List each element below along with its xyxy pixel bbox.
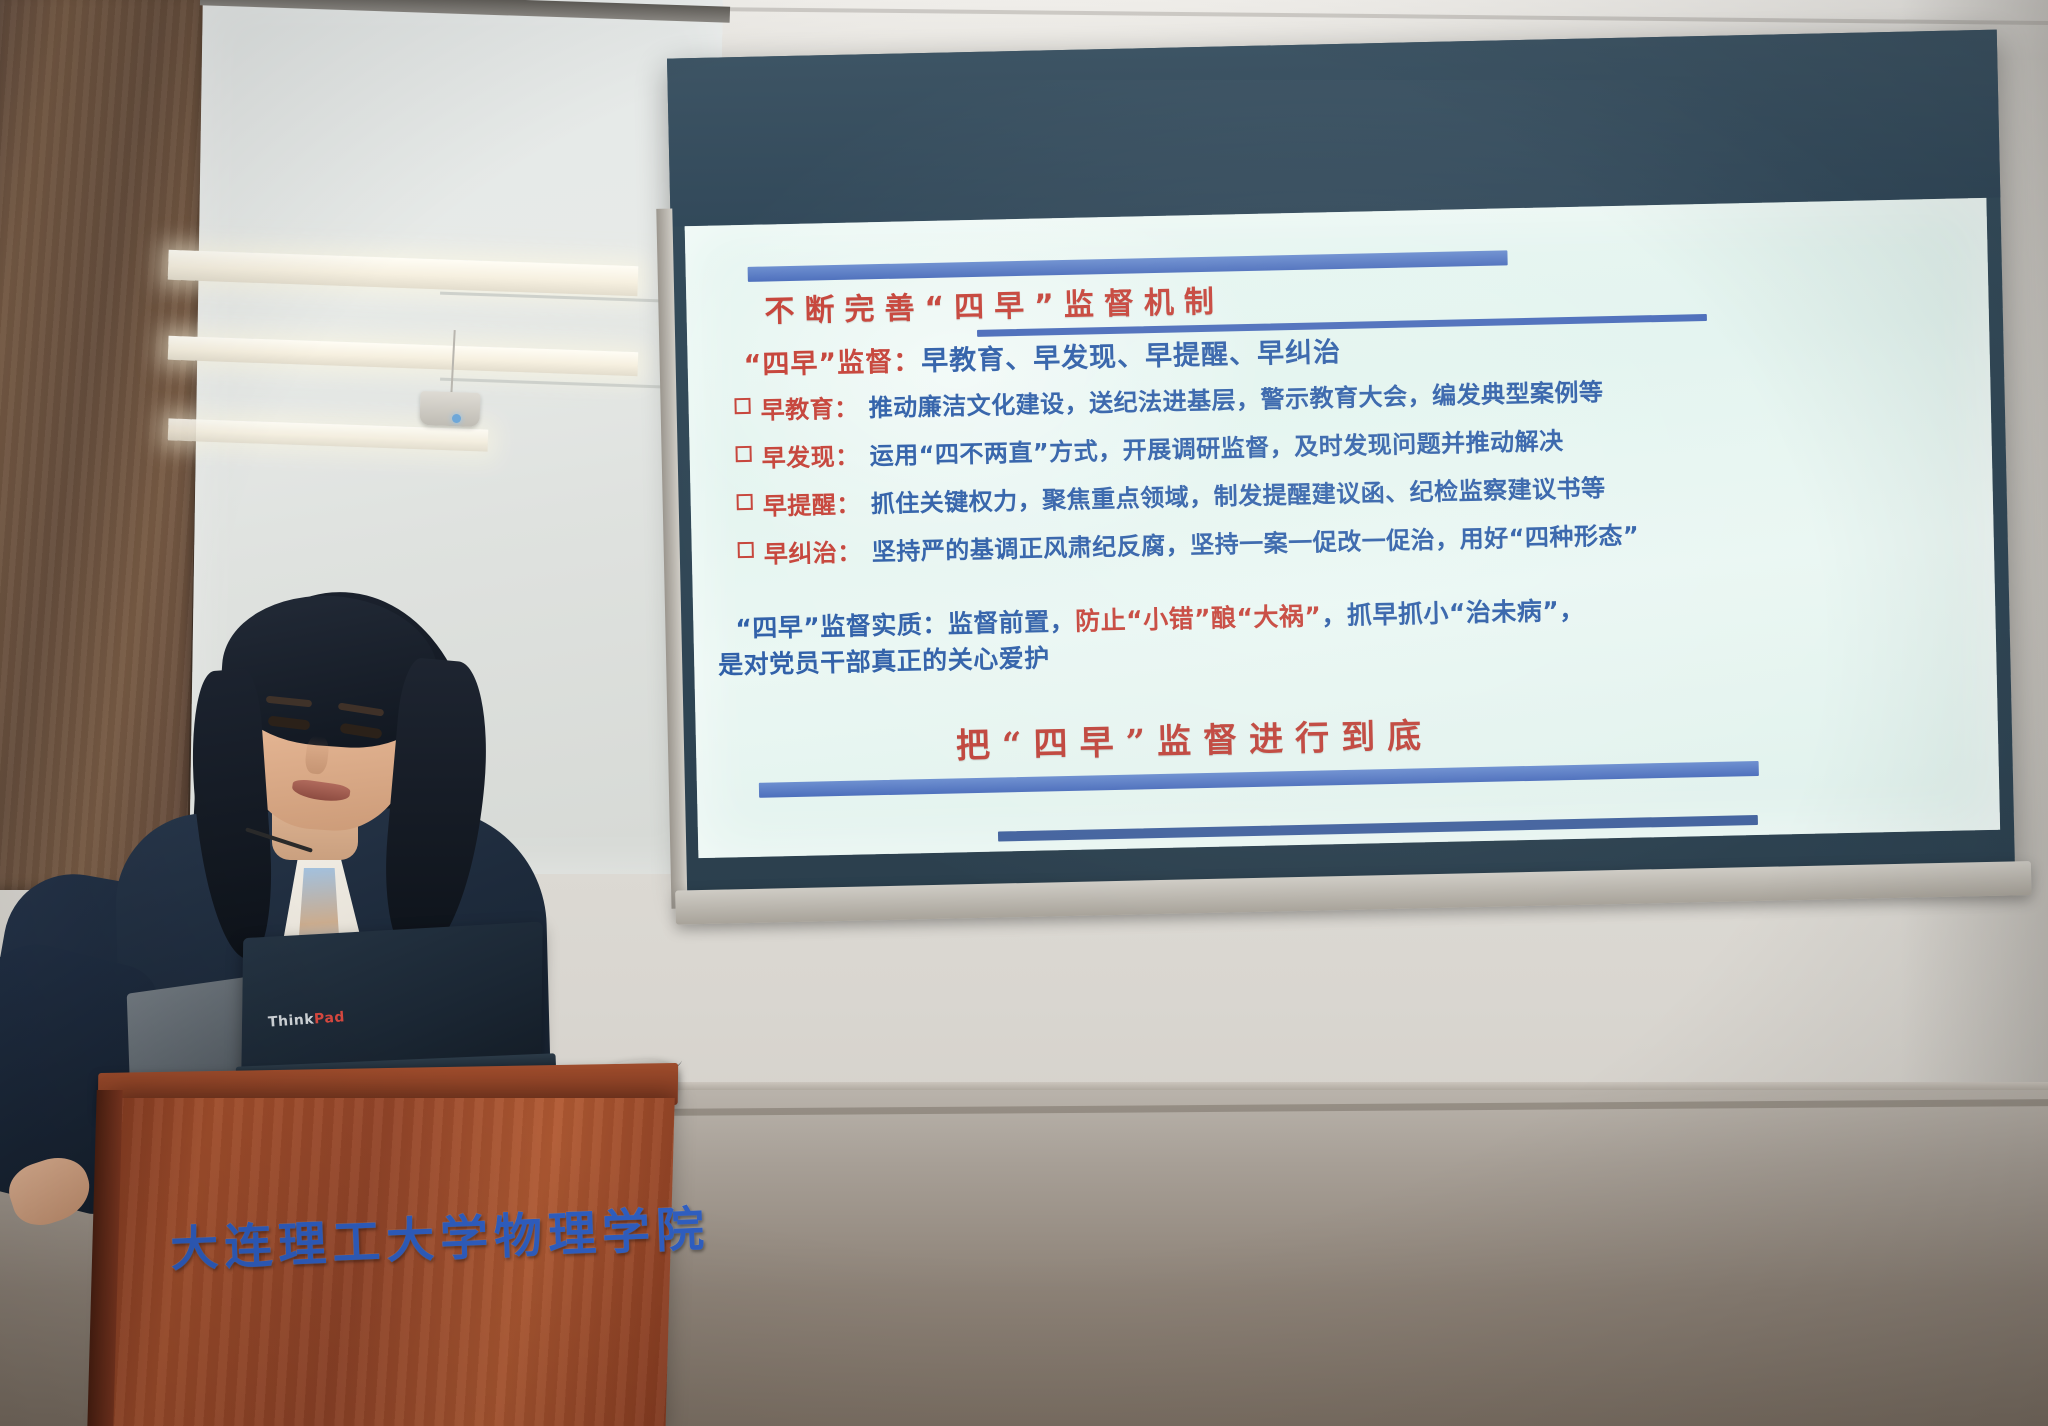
- slide-lead-blue: 早教育、早发现、早提醒、早纠治: [921, 337, 1342, 377]
- checkbox-outline-icon: [738, 542, 754, 558]
- laptop-brand-suffix: Pad: [314, 1009, 346, 1027]
- sensor-indicator-led-icon: [452, 414, 461, 423]
- checkbox-outline-icon: [735, 446, 751, 462]
- presentation-slide: 不断完善“四早”监督机制 “四早”监督：早教育、早发现、早提醒、早纠治 早教育：…: [685, 198, 2000, 858]
- wall-sensor: [419, 391, 480, 427]
- slide-decor-bar-bottom: [759, 761, 1759, 798]
- slide-bullet-list: 早教育： 推动廉洁文化建设，送纪法进基层，警示教育大会，编发典型案例等 早发现：…: [734, 364, 1978, 583]
- slide-bullet-text: 坚持严的基调正风肃纪反腐，坚持一案一促改一促治，用好“四种形态”: [871, 516, 1639, 568]
- laptop-brand-prefix: Think: [268, 1011, 315, 1030]
- slide-bullet-label: 早教育：: [760, 389, 859, 426]
- checkbox-outline-icon: [734, 398, 750, 414]
- slide-bullet-text: 抓住关键权力，聚焦重点领域，制发提醒建议函、纪检监察建议书等: [870, 468, 1606, 519]
- slide-bullet-label: 早发现：: [761, 437, 860, 474]
- projection-screen: 不断完善“四早”监督机制 “四早”监督：早教育、早发现、早提醒、早纠治 早教育：…: [667, 30, 2015, 899]
- slide-footer-slogan: 把“四早”监督进行到底: [955, 701, 1756, 767]
- slide-bullet-label: 早纠治：: [763, 532, 862, 569]
- slide-bullet-text: 推动廉洁文化建设，送纪法进基层，警示教育大会，编发典型案例等: [868, 372, 1604, 423]
- screen-hood: [667, 30, 2000, 227]
- slide-summary: “四早”监督实质：监督前置，防止“小错”酿“大祸”，抓早抓小“治未病”， 是对党…: [735, 584, 1986, 684]
- slide-summary-part-a: “四早”监督实质：监督前置，: [735, 607, 1075, 643]
- checkbox-outline-icon: [737, 494, 753, 510]
- slide-lead-red: “四早”监督：: [743, 346, 921, 381]
- lecture-hall-photo: 不断完善“四早”监督机制 “四早”监督：早教育、早发现、早提醒、早纠治 早教育：…: [0, 0, 2048, 1426]
- slide-bullet-label: 早提醒：: [762, 484, 861, 521]
- slide-summary-part-b: ，抓早抓小“治未病”，: [1321, 596, 1585, 631]
- slide-summary-highlight: 防止“小错”酿“大祸”: [1075, 601, 1322, 635]
- slide-bullet-text: 运用“四不两直”方式，开展调研监督，及时发现问题并推动解决: [869, 421, 1564, 471]
